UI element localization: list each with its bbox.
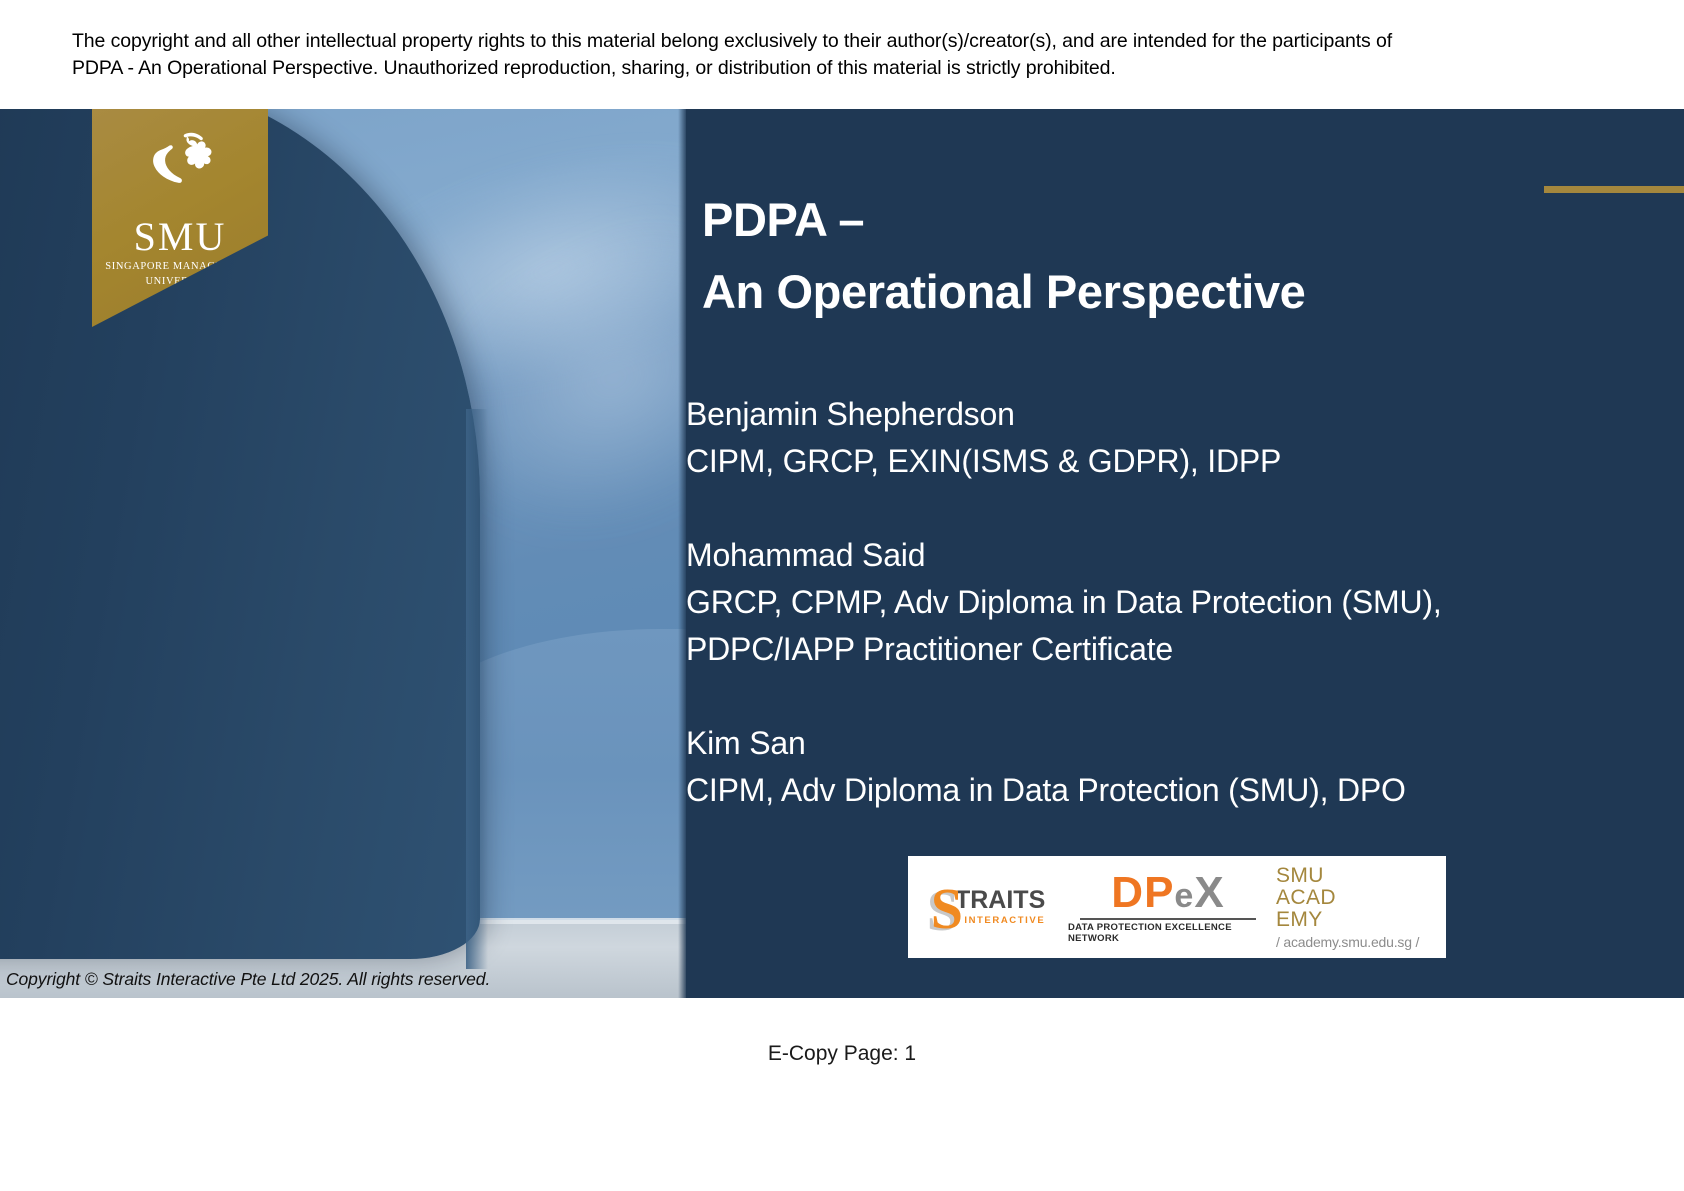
dpex-letter-e: e bbox=[1174, 879, 1194, 913]
smu-academy-line-2: ACAD bbox=[1276, 887, 1440, 909]
copyright-notice-line-1: The copyright and all other intellectual… bbox=[72, 28, 1614, 55]
straits-interactive-logo: S TRAITS INTERACTIVE bbox=[908, 878, 1068, 936]
presenter-credentials: GRCP, CPMP, Adv Diploma in Data Protecti… bbox=[686, 579, 1666, 626]
smu-academy-line-1: SMU bbox=[1276, 865, 1440, 887]
dpex-tagline: DATA PROTECTION EXCELLENCE NETWORK bbox=[1068, 922, 1268, 944]
page-number-label: E-Copy Page: 1 bbox=[0, 1042, 1684, 1066]
dpex-letter-d: D bbox=[1111, 871, 1144, 915]
curved-wall-edge-decor bbox=[466, 409, 488, 969]
photo-seam-decor bbox=[678, 109, 686, 998]
presenter-list: Benjamin Shepherdson CIPM, GRCP, EXIN(IS… bbox=[686, 391, 1666, 814]
partner-logo-strip: S TRAITS INTERACTIVE D P e X DATA PROTEC… bbox=[908, 856, 1446, 958]
dpex-letter-p: P bbox=[1144, 871, 1174, 915]
presenter-name: Kim San bbox=[686, 720, 1666, 767]
dpex-wordmark: D P e X bbox=[1111, 871, 1224, 915]
smu-academy-logo: SMU ACAD EMY / academy.smu.edu.sg / bbox=[1268, 865, 1440, 950]
slide-content: PDPA – An Operational Perspective Benjam… bbox=[686, 109, 1684, 998]
page-footer: E-Copy Page: 1 bbox=[0, 998, 1684, 1191]
straits-s-icon: S bbox=[931, 880, 963, 938]
slide-title: PDPA – An Operational Perspective bbox=[702, 184, 1652, 328]
smu-lion-map-icon bbox=[92, 131, 268, 214]
slide-title-line-1: PDPA – bbox=[702, 184, 1652, 256]
presenter-name: Benjamin Shepherdson bbox=[686, 391, 1666, 438]
slide-title-line-2: An Operational Perspective bbox=[702, 256, 1652, 328]
presenter-spacer bbox=[686, 673, 1666, 720]
straits-subtitle: INTERACTIVE bbox=[955, 916, 1045, 926]
dpex-divider bbox=[1080, 918, 1256, 920]
smu-academy-url: / academy.smu.edu.sg / bbox=[1276, 934, 1440, 950]
slide-canvas: SMU SINGAPORE MANAGEMENT UNIVERSITY PDPA… bbox=[0, 109, 1684, 998]
presenter-credentials: PDPC/IAPP Practitioner Certificate bbox=[686, 626, 1666, 673]
smu-academy-line-3: EMY bbox=[1276, 909, 1440, 931]
gold-accent-rule bbox=[1544, 186, 1684, 193]
presenter-credentials: CIPM, Adv Diploma in Data Protection (SM… bbox=[686, 767, 1666, 814]
presenter-name: Mohammad Said bbox=[686, 532, 1666, 579]
dpex-logo: D P e X DATA PROTECTION EXCELLENCE NETWO… bbox=[1068, 871, 1268, 944]
slide-copyright: Copyright © Straits Interactive Pte Ltd … bbox=[6, 969, 490, 990]
copyright-notice: The copyright and all other intellectual… bbox=[0, 0, 1684, 109]
straits-wordmark: TRAITS bbox=[955, 888, 1045, 913]
copyright-notice-line-2: PDPA - An Operational Perspective. Unaut… bbox=[72, 55, 1614, 82]
dpex-letter-x: X bbox=[1194, 871, 1224, 915]
presenter-spacer bbox=[686, 485, 1666, 532]
presenter-credentials: CIPM, GRCP, EXIN(ISMS & GDPR), IDPP bbox=[686, 438, 1666, 485]
